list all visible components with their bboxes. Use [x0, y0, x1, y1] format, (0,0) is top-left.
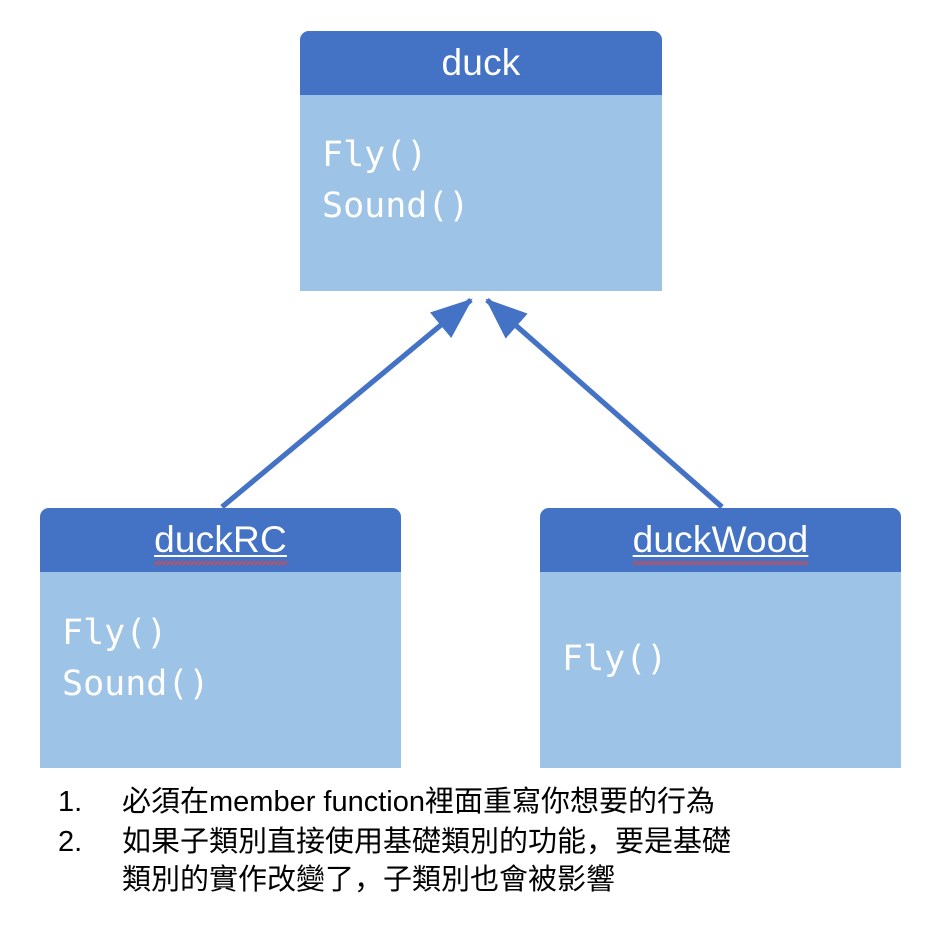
class-header-duckrc: duckRC	[40, 508, 401, 572]
class-header-duck: duck	[300, 31, 662, 95]
diagram-canvas: duck Fly() Sound() duckRC Fly() Sound() …	[0, 0, 939, 940]
method-list-duckwood: Fly()	[562, 634, 901, 685]
note-text: 必須在member function裡面重寫你想要的行為	[122, 783, 924, 822]
method-item: Fly()	[62, 608, 401, 659]
notes-list: 1. 必須在member function裡面重寫你想要的行為 2. 如果子類別…	[44, 783, 924, 901]
class-title-duckwood: duckWood	[633, 521, 809, 560]
connector-duckwood-to-duck	[487, 300, 722, 507]
note-text: 如果子類別直接使用基礎類別的功能，要是基礎 類別的實作改變了，子類別也會被影響	[122, 823, 924, 900]
note-marker: 1.	[44, 783, 122, 822]
method-list-duckrc: Fly() Sound()	[62, 608, 401, 710]
class-body-duckwood: Fly()	[540, 572, 901, 768]
note-marker: 2.	[44, 823, 122, 862]
class-body-duckrc: Fly() Sound()	[40, 572, 401, 768]
method-item: Fly()	[322, 130, 662, 181]
note-line: 必須在member function裡面重寫你想要的行為	[122, 783, 924, 822]
method-item: Sound()	[322, 181, 662, 232]
class-title-duckrc: duckRC	[154, 521, 287, 560]
note-item: 2. 如果子類別直接使用基礎類別的功能，要是基礎 類別的實作改變了，子類別也會被…	[44, 823, 924, 900]
note-item: 1. 必須在member function裡面重寫你想要的行為	[44, 783, 924, 822]
class-box-duckrc[interactable]: duckRC Fly() Sound()	[40, 508, 401, 768]
note-line: 類別的實作改變了，子類別也會被影響	[122, 861, 924, 900]
method-item: Sound()	[62, 659, 401, 710]
method-item: Fly()	[562, 634, 901, 685]
class-box-duckwood[interactable]: duckWood Fly()	[540, 508, 901, 768]
connector-duckrc-to-duck	[222, 300, 471, 507]
class-box-duck[interactable]: duck Fly() Sound()	[300, 31, 662, 291]
class-title-duck: duck	[442, 44, 521, 83]
class-body-duck: Fly() Sound()	[300, 95, 662, 291]
method-list-duck: Fly() Sound()	[322, 130, 662, 232]
class-header-duckwood: duckWood	[540, 508, 901, 572]
note-line: 如果子類別直接使用基礎類別的功能，要是基礎	[122, 823, 924, 862]
